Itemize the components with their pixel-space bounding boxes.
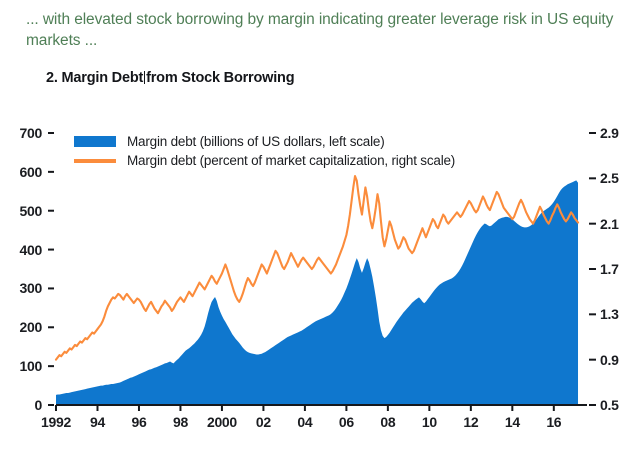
y-axis-right-tick-label: 1.3: [600, 306, 634, 322]
x-axis-tick-label: 08: [380, 414, 395, 430]
x-axis-tick-label: 1992: [41, 414, 71, 430]
y-axis-right-tick-label: 2.9: [600, 125, 634, 141]
legend-item-margin-debt-percent: Margin debt (percent of market capitaliz…: [74, 152, 455, 169]
y-axis-left-tick-label: 400: [8, 242, 42, 258]
chart-plot: 1992949698200002040608101214160100200300…: [0, 0, 640, 449]
series-area-margin-debt-billions: [56, 180, 578, 405]
y-axis-left-tick-label: 300: [8, 280, 42, 296]
x-axis-tick-label: 94: [90, 414, 105, 430]
y-axis-right-tick-label: 2.5: [600, 170, 634, 186]
y-axis-right-tick-label: 0.9: [600, 352, 634, 368]
y-axis-left-tick-label: 200: [8, 319, 42, 335]
figure-container: ... with elevated stock borrowing by mar…: [0, 0, 640, 449]
y-axis-left-tick-label: 500: [8, 203, 42, 219]
area-swatch-icon: [74, 136, 116, 147]
x-axis-tick-label: 96: [131, 414, 146, 430]
chart-legend: Margin debt (billions of US dollars, lef…: [74, 133, 455, 171]
chart-svg: [0, 0, 640, 449]
y-axis-left-tick-label: 600: [8, 164, 42, 180]
y-axis-left-tick-label: 0: [8, 397, 42, 413]
x-axis-tick-label: 16: [546, 414, 561, 430]
y-axis-right-tick-label: 2.1: [600, 216, 634, 232]
legend-label: Margin debt (billions of US dollars, lef…: [127, 133, 385, 150]
x-axis-tick-label: 10: [422, 414, 437, 430]
y-axis-left-tick-label: 100: [8, 358, 42, 374]
x-axis-tick-label: 14: [505, 414, 520, 430]
x-axis-tick-label: 04: [297, 414, 312, 430]
x-axis-tick-label: 98: [173, 414, 188, 430]
x-axis-tick-label: 06: [339, 414, 354, 430]
x-axis-tick-label: 02: [256, 414, 271, 430]
y-axis-left-tick-label: 700: [8, 125, 42, 141]
y-axis-right-tick-label: 0.5: [600, 397, 634, 413]
x-axis-tick-label: 2000: [207, 414, 237, 430]
x-axis-tick-label: 12: [463, 414, 478, 430]
y-axis-right-tick-label: 1.7: [600, 261, 634, 277]
legend-label: Margin debt (percent of market capitaliz…: [127, 152, 455, 169]
line-swatch-icon: [74, 159, 116, 163]
legend-item-margin-debt-billions: Margin debt (billions of US dollars, lef…: [74, 133, 455, 150]
